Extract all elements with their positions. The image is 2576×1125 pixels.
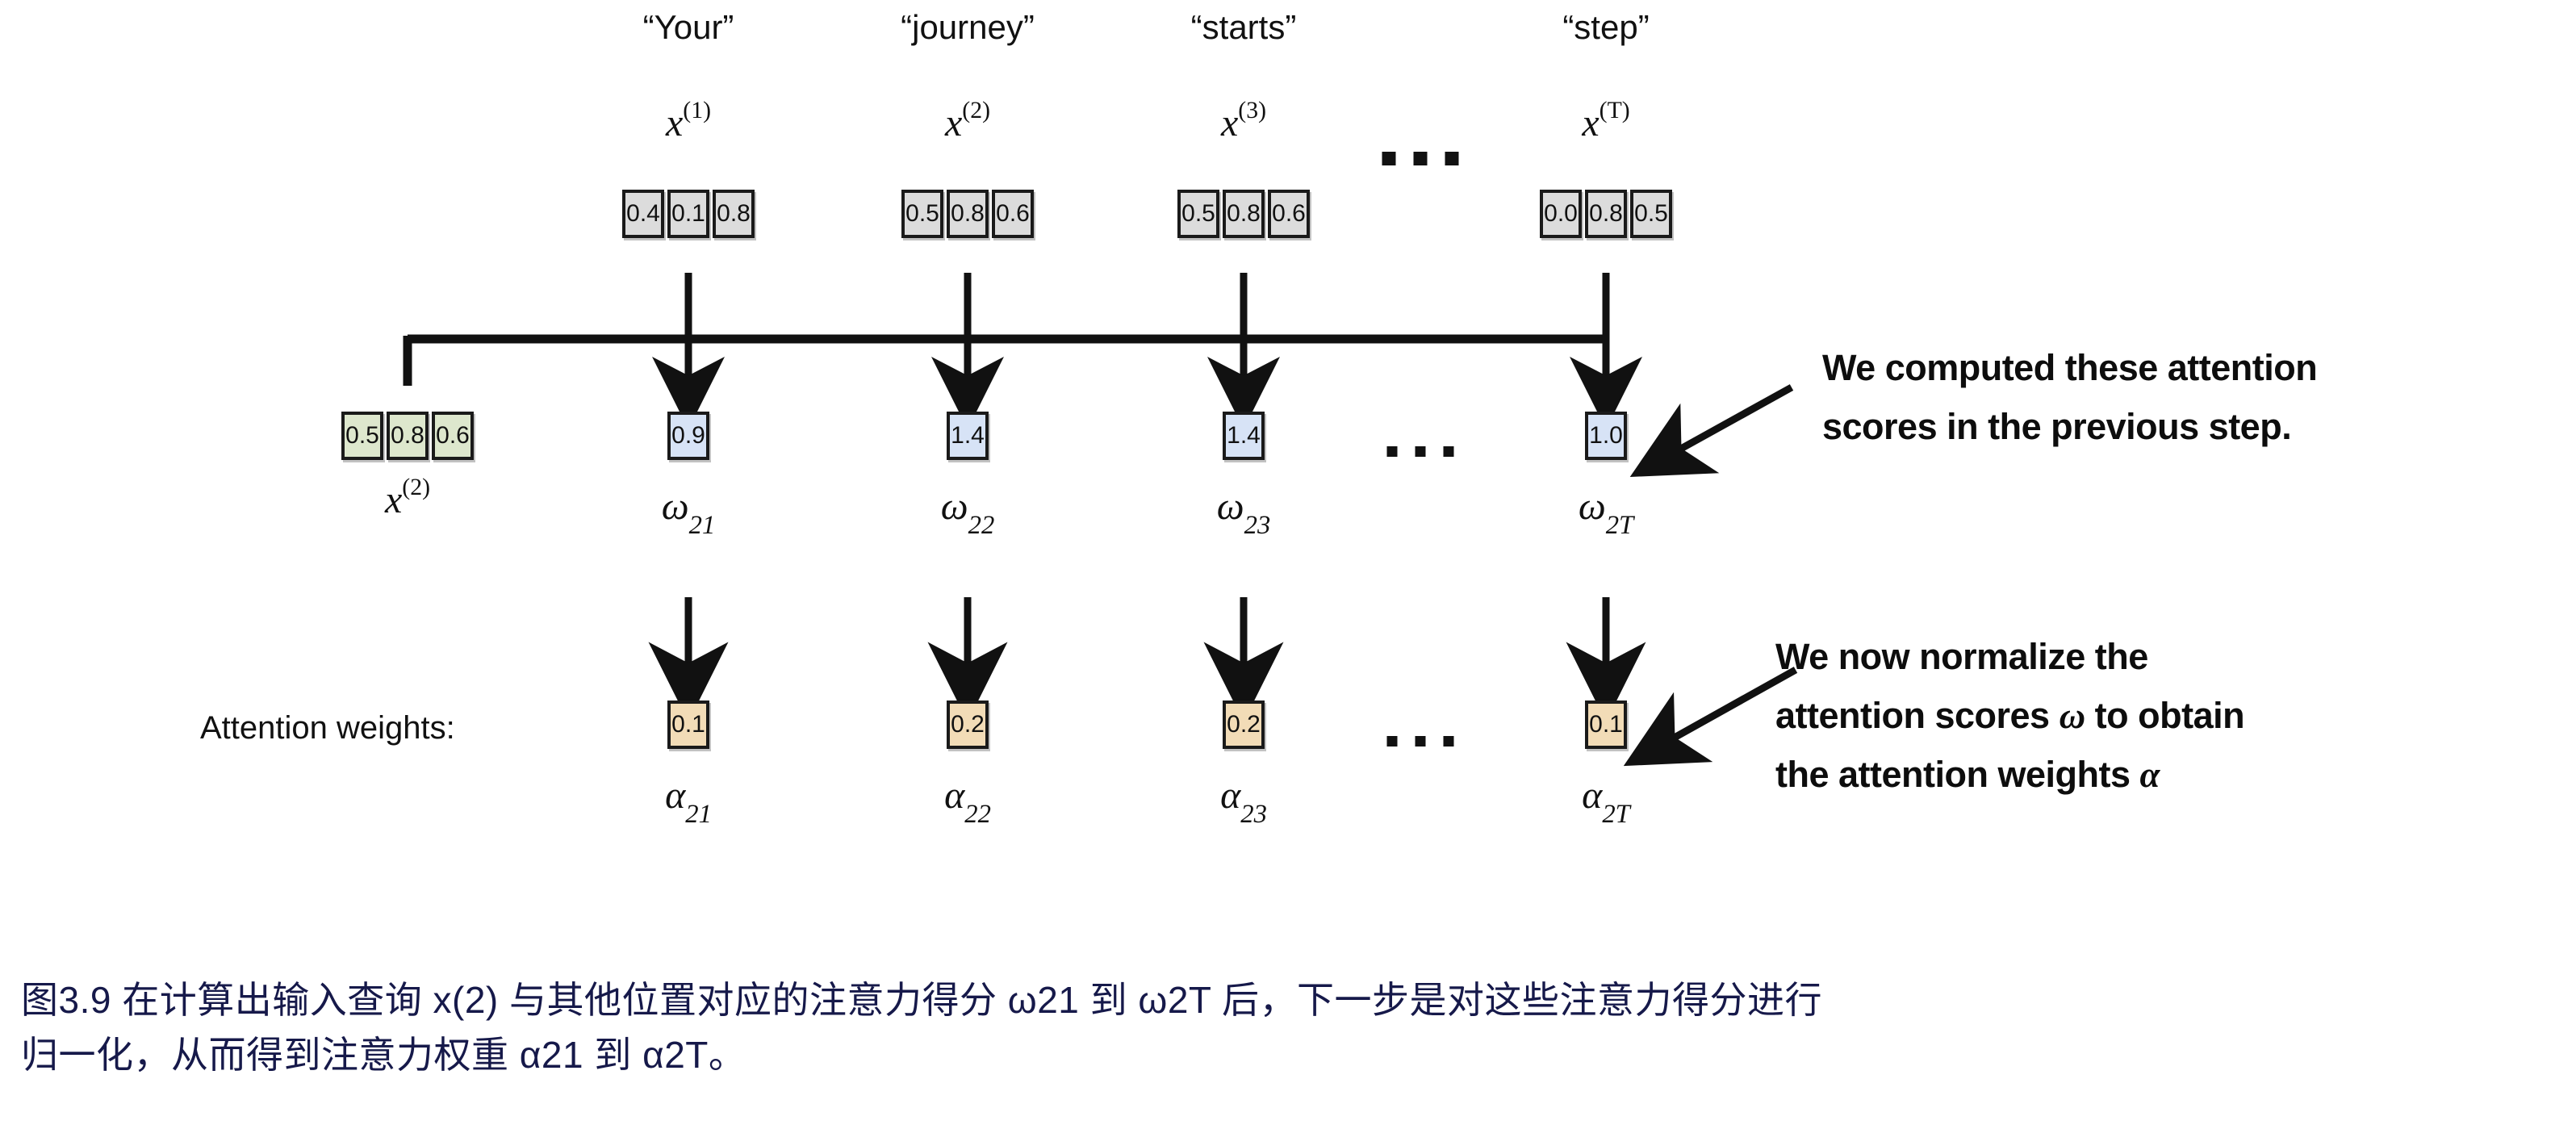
attention-weights-row-label: Attention weights: (200, 710, 455, 747)
weights-callout-line3-a: the attention weights (1775, 754, 2131, 795)
input-to-score-arrows (688, 273, 1606, 393)
broadcast-bracket (408, 336, 1606, 386)
token-symbol-sup-1: (2) (962, 97, 990, 123)
attention-score-box-1: 1.4 (947, 412, 989, 460)
figure-canvas: “Your” “journey” “starts” “step” x(1) x(… (0, 0, 2576, 1125)
token-symbol-2: x(3) (1221, 101, 1266, 145)
vector-cell: 0.6 (992, 190, 1034, 238)
scores-callout-line1: We computed these attention (1822, 339, 2317, 398)
token-symbol-base-1: x (945, 102, 962, 144)
vector-cell: 0.1 (667, 190, 709, 238)
score-symbol-1: ω22 (941, 484, 995, 535)
query-symbol-sup: (2) (402, 474, 430, 500)
input-vector-2: 0.5 0.8 0.6 (1177, 190, 1310, 238)
score-symbol-2: ω23 (1217, 484, 1271, 535)
scores-callout-line2: scores in the previous step. (1822, 398, 2317, 457)
query-cell: 0.5 (341, 412, 383, 460)
weight-symbol-base-1: α (944, 774, 964, 817)
token-symbol-1: x(2) (945, 101, 990, 145)
vector-cell: 0.5 (1630, 190, 1672, 238)
score-cell: 1.0 (1585, 412, 1627, 460)
score-symbol-sub-1: 22 (968, 511, 995, 540)
alpha-symbol-inline: α (2140, 755, 2160, 795)
weight-symbol-sub-1: 22 (964, 800, 991, 829)
weights-callout-line2-b: to obtain (2095, 695, 2244, 736)
figure-caption: 图3.9 在计算出输入查询 x(2) 与其他位置对应的注意力得分 ω21 到 ω… (21, 972, 2555, 1082)
score-symbol-sub-3: 2T (1606, 511, 1633, 540)
score-cell: 1.4 (947, 412, 989, 460)
vector-cell: 0.8 (947, 190, 989, 238)
attention-weight-box-1: 0.2 (947, 701, 989, 749)
attention-score-box-0: 0.9 (667, 412, 709, 460)
token-word-1: “journey” (901, 8, 1035, 47)
connector-overlay (0, 0, 2576, 1125)
vector-cell: 0.5 (901, 190, 943, 238)
vector-cell: 0.6 (1268, 190, 1310, 238)
token-symbol-base-0: x (666, 102, 683, 144)
weight-symbol-base-0: α (665, 774, 685, 817)
query-cell: 0.6 (432, 412, 474, 460)
token-row-ellipsis (1382, 152, 1459, 165)
query-symbol-base: x (385, 479, 402, 521)
weights-callout-line3: the attention weights α (1775, 746, 2244, 805)
weight-symbol-1: α22 (944, 773, 991, 824)
dot (1416, 446, 1426, 457)
token-symbol-sup-3: (T) (1600, 97, 1630, 123)
score-symbol-base-2: ω (1217, 485, 1244, 528)
weight-symbol-sub-2: 23 (1240, 800, 1267, 829)
query-symbol: x(2) (385, 478, 430, 522)
vector-cell: 0.4 (622, 190, 664, 238)
weights-callout-line1: We now normalize the (1775, 628, 2244, 687)
score-symbol-base-3: ω (1579, 485, 1606, 528)
input-vector-3: 0.0 0.8 0.5 (1540, 190, 1672, 238)
dot (1444, 446, 1454, 457)
attention-weight-box-3: 0.1 (1585, 701, 1627, 749)
token-symbol-sup-0: (1) (683, 97, 711, 123)
weight-symbol-base-3: α (1582, 774, 1602, 817)
token-symbol-base-3: x (1582, 102, 1599, 144)
score-symbol-base-0: ω (662, 485, 689, 528)
attention-weight-box-2: 0.2 (1223, 701, 1265, 749)
weight-symbol-sub-0: 21 (685, 800, 712, 829)
score-symbol-sub-2: 23 (1244, 511, 1271, 540)
dot (1382, 152, 1396, 165)
vector-cell: 0.0 (1540, 190, 1582, 238)
token-symbol-base-2: x (1221, 102, 1238, 144)
score-symbol-base-1: ω (941, 485, 968, 528)
dot (1414, 152, 1428, 165)
weights-callout-line2: attention scores ω to obtain (1775, 687, 2244, 746)
score-cell: 0.9 (667, 412, 709, 460)
score-to-weight-arrows (688, 597, 1606, 682)
token-word-2: “starts” (1191, 8, 1297, 47)
vector-cell: 0.8 (1223, 190, 1265, 238)
weight-cell: 0.1 (1585, 701, 1627, 749)
weight-cell: 0.2 (1223, 701, 1265, 749)
score-symbol-sub-0: 21 (689, 511, 716, 540)
dot (1387, 446, 1398, 457)
omega-symbol-inline: ω (2060, 696, 2085, 736)
dot (1387, 736, 1398, 747)
weights-callout-line2-a: attention scores (1775, 695, 2050, 736)
weight-symbol-0: α21 (665, 773, 712, 824)
vector-cell: 0.5 (1177, 190, 1219, 238)
score-symbol-0: ω21 (662, 484, 716, 535)
token-word-3: “step” (1562, 8, 1649, 47)
query-cell: 0.8 (387, 412, 429, 460)
dot (1445, 152, 1459, 165)
weight-cell: 0.2 (947, 701, 989, 749)
weight-row-ellipsis (1387, 736, 1454, 747)
weight-symbol-base-2: α (1220, 774, 1240, 817)
vector-cell: 0.8 (1585, 190, 1627, 238)
score-row-ellipsis (1387, 446, 1454, 457)
input-vector-0: 0.4 0.1 0.8 (622, 190, 755, 238)
score-cell: 1.4 (1223, 412, 1265, 460)
scores-callout: We computed these attention scores in th… (1822, 339, 2317, 457)
attention-weight-box-0: 0.1 (667, 701, 709, 749)
attention-score-box-2: 1.4 (1223, 412, 1265, 460)
figure-caption-line-2: 归一化，从而得到注意力权重 α21 到 α2T。 (21, 1027, 2555, 1082)
token-symbol-sup-2: (3) (1238, 97, 1266, 123)
vector-cell: 0.8 (713, 190, 755, 238)
attention-score-box-3: 1.0 (1585, 412, 1627, 460)
figure-caption-line-1: 图3.9 在计算出输入查询 x(2) 与其他位置对应的注意力得分 ω21 到 ω… (21, 972, 2555, 1027)
weight-cell: 0.1 (667, 701, 709, 749)
token-symbol-3: x(T) (1582, 101, 1629, 145)
weights-callout: We now normalize the attention scores ω … (1775, 628, 2244, 805)
input-vector-1: 0.5 0.8 0.6 (901, 190, 1034, 238)
dot (1416, 736, 1426, 747)
weight-symbol-3: α2T (1582, 773, 1630, 824)
scores-callout-arrow (1665, 387, 1792, 458)
query-vector: 0.5 0.8 0.6 (341, 412, 474, 460)
dot (1444, 736, 1454, 747)
token-word-0: “Your” (643, 8, 734, 47)
score-symbol-3: ω2T (1579, 484, 1633, 535)
weight-symbol-2: α23 (1220, 773, 1267, 824)
token-symbol-0: x(1) (666, 101, 711, 145)
weight-symbol-sub-3: 2T (1602, 800, 1629, 829)
